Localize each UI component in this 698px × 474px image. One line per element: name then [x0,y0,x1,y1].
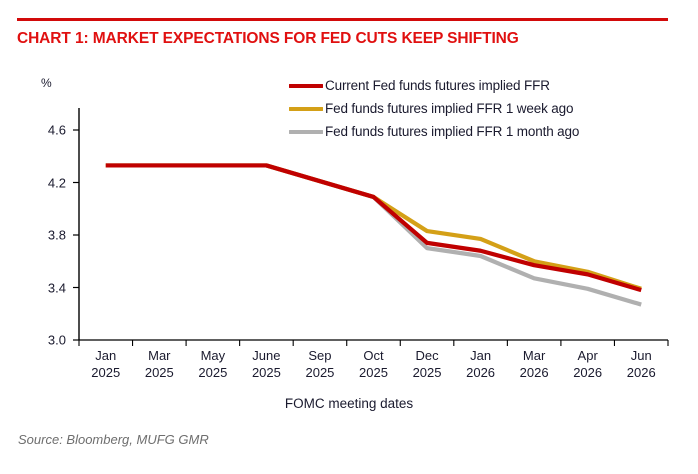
legend-item-2[interactable]: Fed funds futures implied FFR 1 week ago [289,102,579,116]
x-axis-tick-label: Jun2026 [611,348,671,381]
legend-swatch-icon [289,130,323,134]
legend-label: Current Fed funds futures implied FFR [325,79,550,93]
x-axis-tick-label: Jan2026 [451,348,511,381]
legend-label: Fed funds futures implied FFR 1 week ago [325,102,573,116]
y-axis-tick-label: 3.4 [26,280,66,295]
y-axis-unit-label: % [41,76,52,90]
y-axis-tick-label: 4.6 [26,123,66,138]
y-axis-tick-label: 4.2 [26,175,66,190]
legend-label: Fed funds futures implied FFR 1 month ag… [325,125,579,139]
legend-item-3[interactable]: Fed funds futures implied FFR 1 month ag… [289,125,579,139]
x-axis-tick-label: Mar2026 [504,348,564,381]
series-line-3 [106,165,641,304]
chart-container: CHART 1: MARKET EXPECTATIONS FOR FED CUT… [0,0,698,474]
x-axis-tick-label: Oct2025 [344,348,404,381]
series-line-1 [106,165,641,290]
x-axis-title: FOMC meeting dates [0,396,698,411]
y-axis-tick-label: 3.0 [26,333,66,348]
header-rule [17,18,668,21]
source-note: Source: Bloomberg, MUFG GMR [18,432,209,447]
chart-title: CHART 1: MARKET EXPECTATIONS FOR FED CUT… [17,30,519,48]
legend-item-1[interactable]: Current Fed funds futures implied FFR [289,79,579,93]
legend-swatch-icon [289,107,323,111]
chart-legend: Current Fed funds futures implied FFRFed… [289,79,579,139]
x-axis-tick-label: June2025 [236,348,296,381]
y-axis-tick-label: 3.8 [26,228,66,243]
x-axis-tick-label: Mar2025 [129,348,189,381]
legend-swatch-icon [289,84,323,88]
x-axis-tick-label: Dec2025 [397,348,457,381]
x-axis-tick-label: Sep2025 [290,348,350,381]
x-axis-tick-label: Jan2025 [76,348,136,381]
series-line-2 [106,165,641,288]
x-axis-tick-label: May2025 [183,348,243,381]
x-axis-tick-label: Apr2026 [558,348,618,381]
